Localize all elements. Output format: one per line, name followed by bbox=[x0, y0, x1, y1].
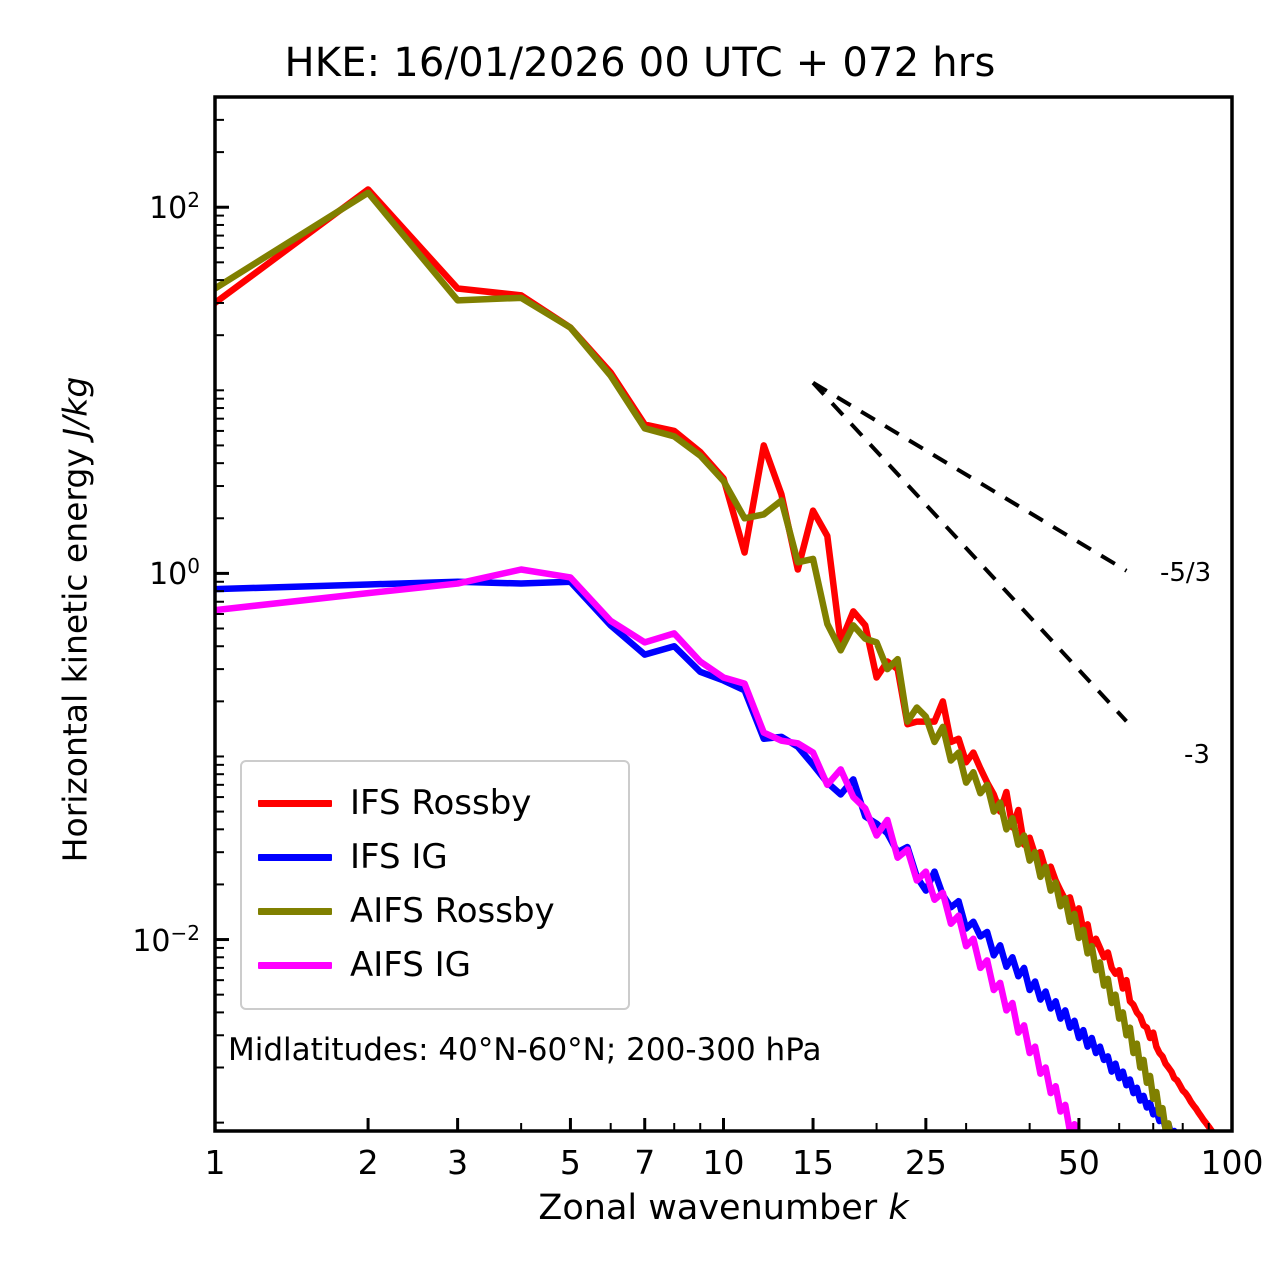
y-tick-label: 102 bbox=[80, 188, 200, 226]
y-tick-base: 10 bbox=[132, 924, 170, 959]
x-tick-label: 3 bbox=[447, 1143, 468, 1182]
legend-swatch bbox=[258, 908, 332, 915]
legend-swatch bbox=[258, 800, 332, 807]
x-tick-label: 50 bbox=[1058, 1143, 1100, 1182]
x-tick-label: 100 bbox=[1201, 1143, 1264, 1182]
x-tick-label: 10 bbox=[703, 1143, 745, 1182]
legend-item-ifs-rossby[interactable]: IFS Rossby bbox=[258, 776, 612, 830]
y-tick-base: 10 bbox=[149, 191, 187, 226]
y-tick-label: 10−2 bbox=[80, 921, 200, 959]
y-tick-exponent: 2 bbox=[187, 188, 200, 212]
reference-slope-line--3 bbox=[813, 383, 1126, 721]
y-tick-exponent: −2 bbox=[171, 921, 200, 945]
y-tick-label: 100 bbox=[80, 554, 200, 592]
legend-label: AIFS Rossby bbox=[350, 894, 555, 928]
x-tick-label: 15 bbox=[792, 1143, 834, 1182]
legend-item-ifs-ig[interactable]: IFS IG bbox=[258, 830, 612, 884]
slope-label-53: -5/3 bbox=[1160, 558, 1211, 588]
legend-label: AIFS IG bbox=[350, 948, 471, 982]
legend-label: IFS IG bbox=[350, 840, 448, 874]
x-tick-label: 2 bbox=[358, 1143, 379, 1182]
x-tick-label: 1 bbox=[205, 1143, 226, 1182]
slope-label-3: -3 bbox=[1184, 740, 1210, 770]
legend-swatch bbox=[258, 854, 332, 861]
x-tick-label: 25 bbox=[905, 1143, 947, 1182]
legend-label: IFS Rossby bbox=[350, 786, 531, 820]
legend-swatch bbox=[258, 962, 332, 969]
y-tick-exponent: 0 bbox=[187, 554, 200, 578]
figure-canvas: HKE: 16/01/2026 00 UTC + 072 hrs Horizon… bbox=[0, 0, 1280, 1288]
legend-item-aifs-ig[interactable]: AIFS IG bbox=[258, 938, 612, 992]
region-annotation: Midlatitudes: 40°N-60°N; 200-300 hPa bbox=[228, 1032, 822, 1068]
y-tick-base: 10 bbox=[149, 557, 187, 592]
reference-slope-line--5-3 bbox=[813, 383, 1126, 571]
legend-item-aifs-rossby[interactable]: AIFS Rossby bbox=[258, 884, 612, 938]
legend: IFS RossbyIFS IGAIFS RossbyAIFS IG bbox=[240, 760, 630, 1010]
x-tick-label: 5 bbox=[560, 1143, 581, 1182]
x-tick-label: 7 bbox=[634, 1143, 655, 1182]
